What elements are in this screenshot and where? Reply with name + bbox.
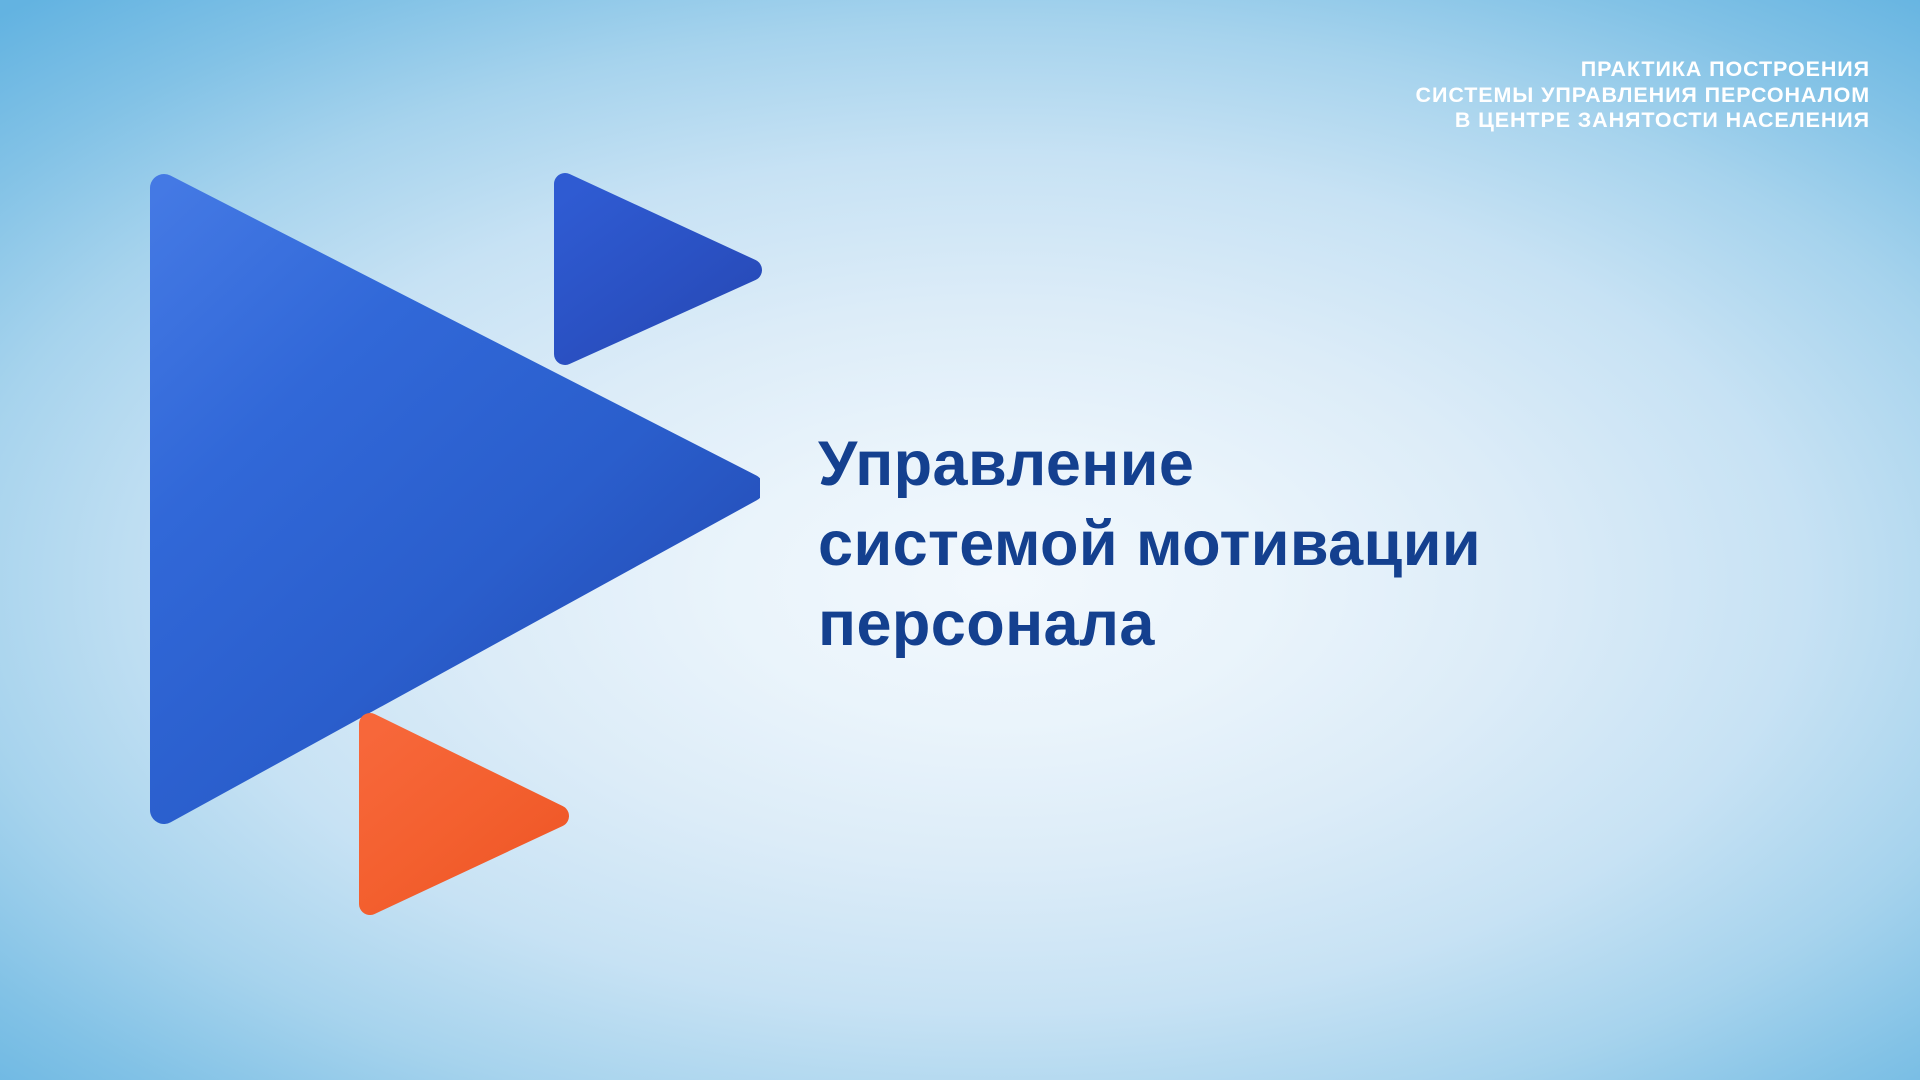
kicker-line-2: СИСТЕМЫ УПРАВЛЕНИЯ ПЕРСОНАЛОМ [1250,83,1870,109]
small-blue-triangle-shape [552,168,764,368]
orange-triangle-shape [356,708,572,920]
kicker-line-3: В ЦЕНТРЕ ЗАНЯТОСТИ НАСЕЛЕНИЯ [1250,108,1870,134]
orange-triangle-path [370,724,558,904]
small-blue-triangle-path [565,184,751,354]
title-line-2: системой мотивации [818,504,1481,584]
kicker-line-1: ПРАКТИКА ПОСТРОЕНИЯ [1250,57,1870,83]
title-line-1: Управление [818,424,1481,504]
slide-title: Управление системой мотивации персонала [818,424,1481,664]
slide-kicker-header: ПРАКТИКА ПОСТРОЕНИЯ СИСТЕМЫ УПРАВЛЕНИЯ П… [1250,57,1870,134]
title-slide: ПРАКТИКА ПОСТРОЕНИЯ СИСТЕМЫ УПРАВЛЕНИЯ П… [0,0,1920,1080]
title-line-3: персонала [818,584,1481,664]
